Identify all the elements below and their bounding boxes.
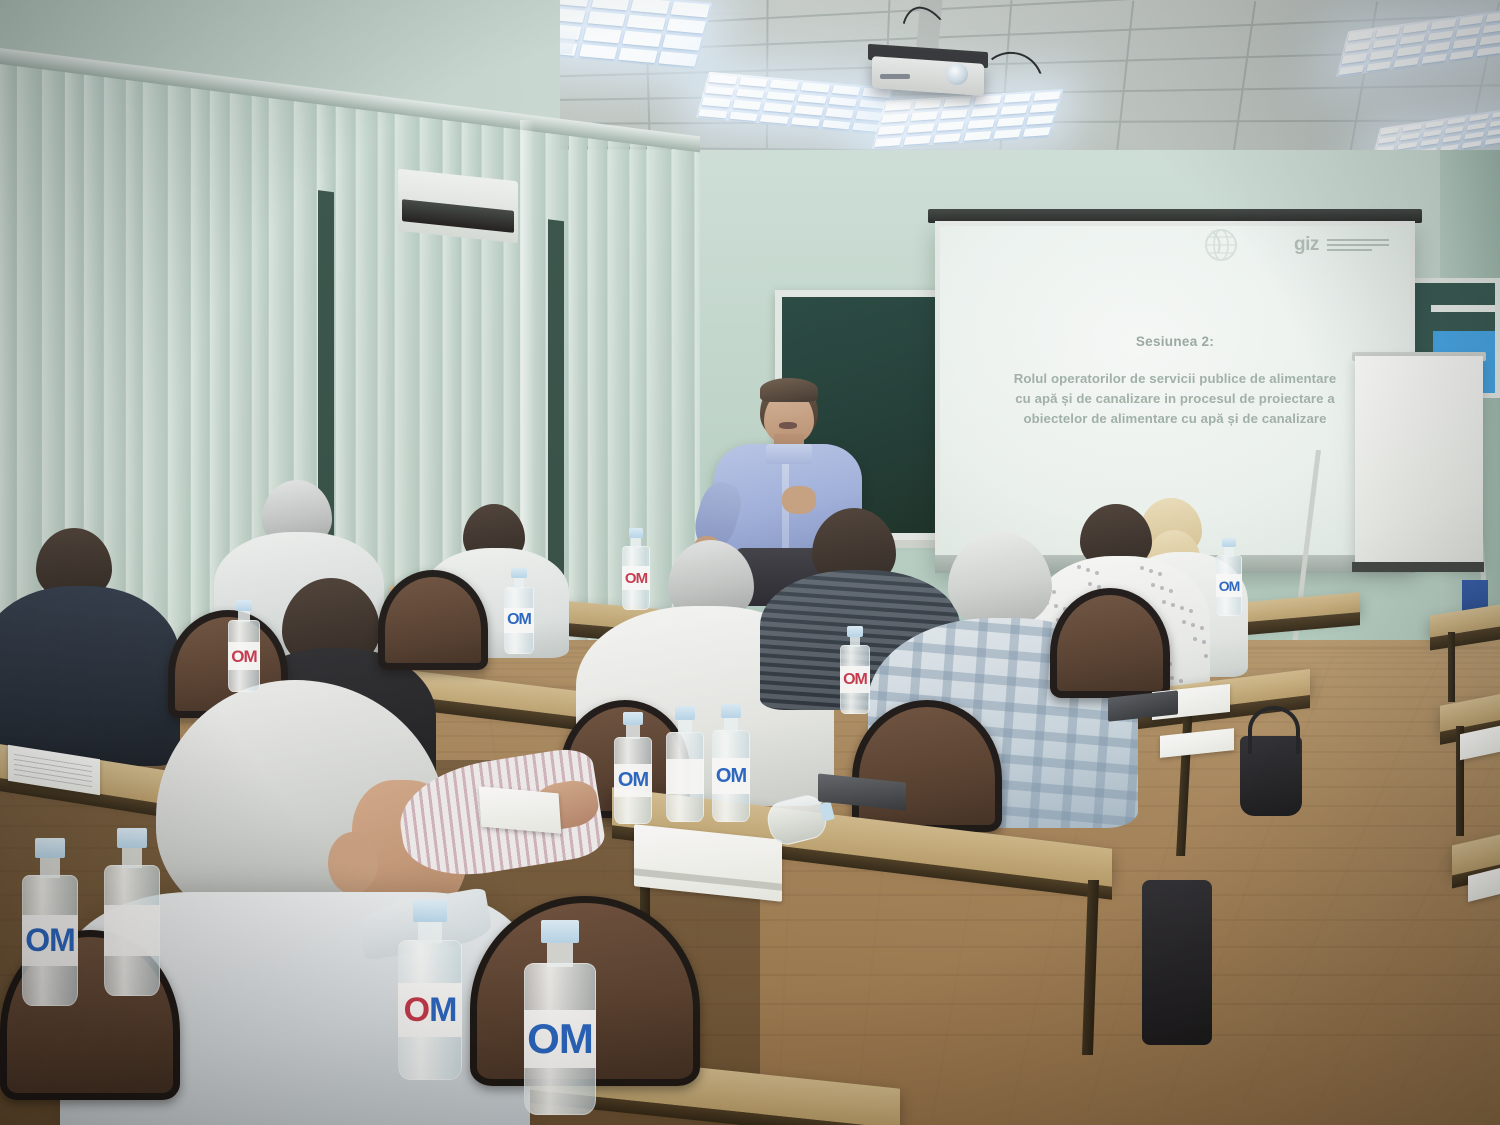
projector-ports (880, 74, 910, 79)
water-bottle-5[interactable]: OM (1216, 538, 1242, 616)
bottle-label-1: OM (228, 642, 260, 670)
flipchart-tray (1352, 562, 1484, 572)
giz-logo: giz (1294, 234, 1319, 256)
bottle-label-6: OM (614, 764, 652, 798)
water-bottle-6[interactable]: OM (614, 712, 652, 824)
presenter-mouth (779, 422, 797, 429)
water-bottle-11[interactable]: OM (398, 900, 462, 1080)
water-bottle-10[interactable] (104, 828, 160, 996)
slide-title-text: Rolul operatorilor de servicii publice d… (990, 369, 1360, 429)
handbag-handle (1248, 706, 1300, 754)
bottle-label-10 (104, 905, 160, 955)
projector-lens (946, 63, 968, 85)
jacket-bag (1142, 880, 1212, 1045)
slide-session-label: Sesiunea 2: (935, 334, 1415, 349)
slide-watermark-globe-icon (1198, 225, 1244, 267)
seminar-room-photo: giz Sesiunea 2: Rolul operatorilor de se… (0, 0, 1500, 1125)
bottle-label-5: OM (1216, 574, 1242, 597)
slide-title-line-1: Rolul operatorilor de servicii publice d… (990, 369, 1360, 389)
presenter-right-hand (782, 486, 816, 514)
giz-logo-bars (1327, 239, 1389, 254)
bottle-label-2: OM (504, 608, 534, 634)
presenter-collar (766, 444, 812, 464)
bottle-label-11: OM (398, 983, 462, 1037)
water-bottle-1[interactable]: OM (228, 600, 260, 692)
bottle-label-12: OM (524, 1010, 596, 1069)
flipchart-paper (1355, 356, 1483, 568)
water-bottle-3[interactable]: OM (622, 528, 650, 610)
presenter-hair-top (760, 378, 818, 402)
bottle-label-7 (666, 759, 704, 794)
chair-mid-4 (1050, 588, 1170, 698)
bottle-label-8: OM (712, 758, 750, 793)
slide-title-line-3: obiectelor de alimentare cu apă și de ca… (990, 409, 1360, 429)
bottle-label-9: OM (22, 915, 78, 965)
bottle-label-3: OM (622, 566, 650, 591)
slide-title-line-2: cu apă și de canalizare in procesul de p… (990, 389, 1360, 409)
water-bottle-12[interactable]: OM (524, 920, 596, 1115)
chair-mid-1 (378, 570, 488, 670)
desk-leg-r1 (1448, 632, 1455, 702)
water-bottle-4[interactable]: OM (840, 626, 870, 714)
papers-front-left (479, 786, 562, 833)
water-bottle-9[interactable]: OM (22, 838, 78, 1006)
participant-1-ear (328, 832, 378, 894)
air-conditioner (398, 169, 518, 244)
water-bottle-2[interactable]: OM (504, 568, 534, 654)
bottle-label-4: OM (840, 666, 870, 692)
water-bottle-8[interactable]: OM (712, 704, 750, 822)
water-bottle-7[interactable] (666, 706, 704, 822)
chair-mid-3 (852, 700, 1002, 832)
